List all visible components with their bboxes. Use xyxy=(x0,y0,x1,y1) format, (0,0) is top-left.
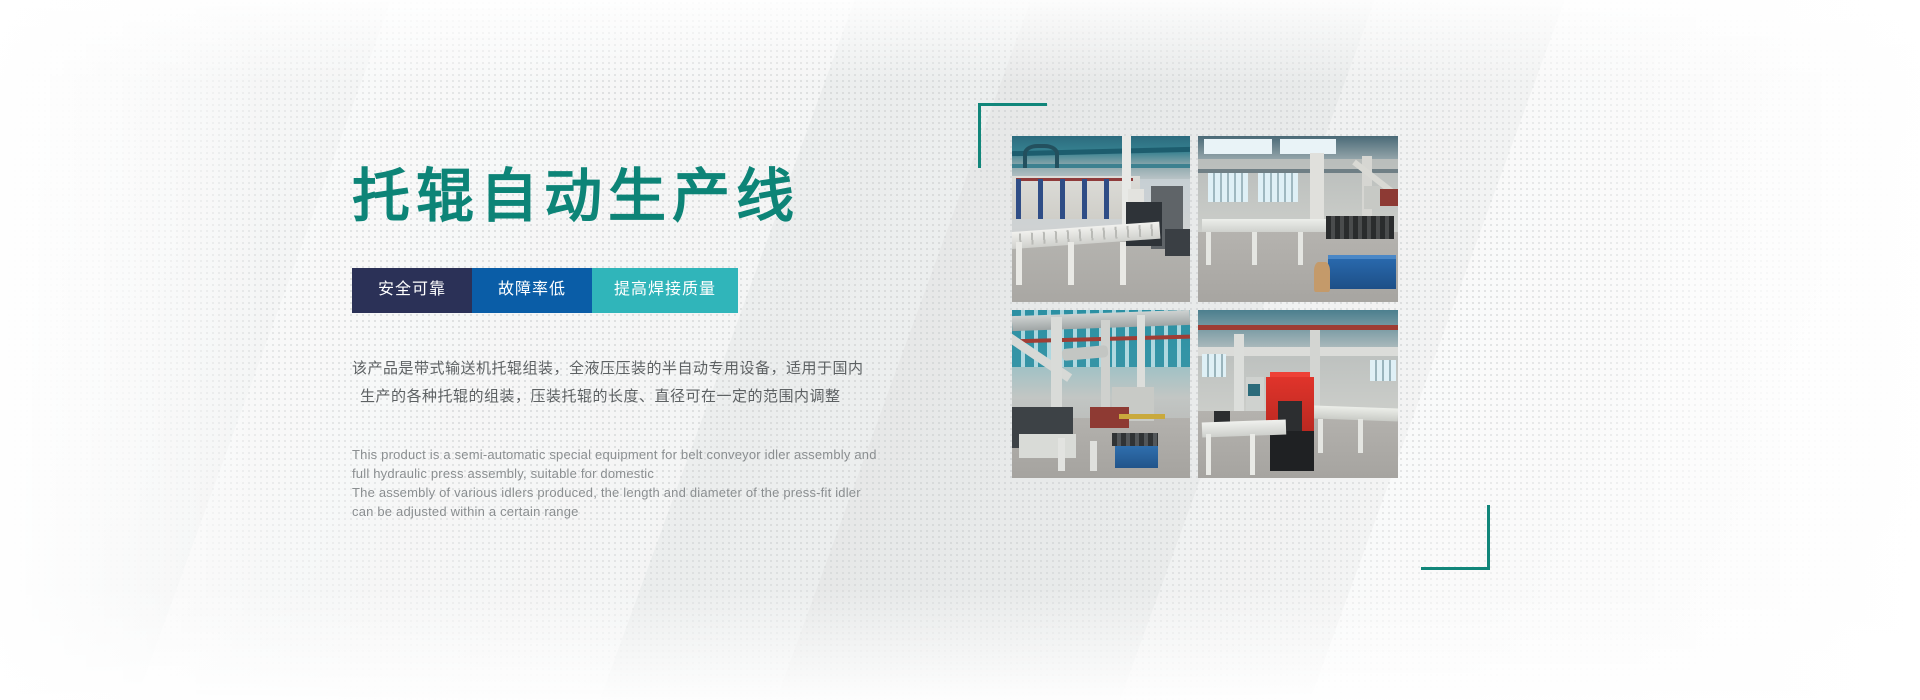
product-banner: 托辊自动生产线 安全可靠 故障率低 提高焊接质量 该产品是带式输送机托辊组装，全… xyxy=(0,0,1920,700)
photo-grid xyxy=(1012,136,1412,478)
description-english-p1-line-1: This product is a semi-automatic special… xyxy=(352,445,952,464)
feature-tag-safety[interactable]: 安全可靠 xyxy=(352,268,472,313)
photo-conveyor-line[interactable] xyxy=(1012,136,1190,302)
photo-red-welder[interactable] xyxy=(1198,310,1398,478)
description-english-p2-line-1: The assembly of various idlers produced,… xyxy=(352,483,952,502)
description-chinese: 该产品是带式输送机托辊组装，全液压压装的半自动专用设备，适用于国内 生产的各种托… xyxy=(352,355,952,411)
description-english-paragraph-1: This product is a semi-automatic special… xyxy=(352,445,952,483)
description-english-p1-line-2: full hydraulic press assembly, suitable … xyxy=(352,464,952,483)
description-english-paragraph-2: The assembly of various idlers produced,… xyxy=(352,483,952,521)
feature-tag-weld-quality[interactable]: 提高焊接质量 xyxy=(592,268,738,313)
banner-text-column: 托辊自动生产线 安全可靠 故障率低 提高焊接质量 该产品是带式输送机托辊组装，全… xyxy=(352,168,952,521)
description-english-p2-line-2: can be adjusted within a certain range xyxy=(352,502,952,521)
corner-bracket-bottom-right-icon xyxy=(1421,505,1490,570)
background-vignette xyxy=(0,0,1920,700)
feature-tag-row: 安全可靠 故障率低 提高焊接质量 xyxy=(352,268,738,313)
photo-collage xyxy=(972,96,1492,576)
feature-tag-low-failure[interactable]: 故障率低 xyxy=(472,268,592,313)
photo-roller-bin[interactable] xyxy=(1198,136,1398,302)
description-chinese-line-1: 该产品是带式输送机托辊组装，全液压压装的半自动专用设备，适用于国内 xyxy=(352,360,864,377)
photo-workshop-frame[interactable] xyxy=(1012,310,1190,478)
page-title: 托辊自动生产线 xyxy=(352,168,952,226)
description-english: This product is a semi-automatic special… xyxy=(352,445,952,521)
description-chinese-line-2: 生产的各种托辊的组装，压装托辊的长度、直径可在一定的范围内调整 xyxy=(352,383,952,411)
